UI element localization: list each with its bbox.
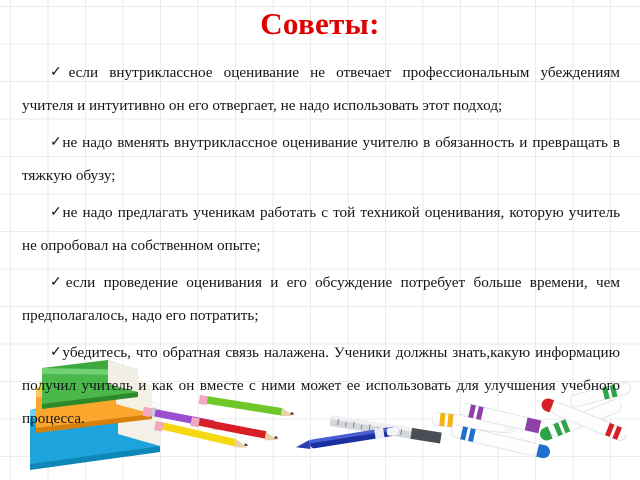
bullet-paragraph-4-text: если проведение оценивания и его обсужде…	[22, 274, 620, 324]
checkmark-bullet-icon: ✓	[50, 205, 63, 220]
checkmark-bullet-icon: ✓	[50, 275, 66, 290]
bullet-paragraph-3: ✓не надо предлагать ученикам работать с …	[22, 196, 620, 262]
bullet-paragraph-5: ✓убедитесь, что обратная связь налажена.…	[22, 336, 620, 435]
slide-canvas: Советы: ✓если внутриклассное оценивание …	[0, 0, 640, 480]
page-title: Советы:	[0, 4, 640, 44]
bullet-paragraph-5-text: убедитесь, что обратная связь налажена. …	[22, 344, 620, 427]
checkmark-bullet-icon: ✓	[50, 345, 62, 360]
bullet-paragraph-3-text: не надо предлагать ученикам работать с т…	[22, 204, 620, 254]
bullet-paragraph-1-text: если внутриклассное оценивание не отвеча…	[22, 64, 620, 114]
body-text-block: ✓если внутриклассное оценивание не отвеч…	[22, 56, 620, 435]
bullet-paragraph-2: ✓не надо вменять внутриклассное оцениван…	[22, 126, 620, 192]
checkmark-bullet-icon: ✓	[50, 135, 62, 150]
bullet-paragraph-1: ✓если внутриклассное оценивание не отвеч…	[22, 56, 620, 122]
bullet-paragraph-4: ✓если проведение оценивания и его обсужд…	[22, 266, 620, 332]
checkmark-bullet-icon: ✓	[50, 65, 69, 80]
bullet-paragraph-2-text: не надо вменять внутриклассное оценивани…	[22, 134, 620, 184]
